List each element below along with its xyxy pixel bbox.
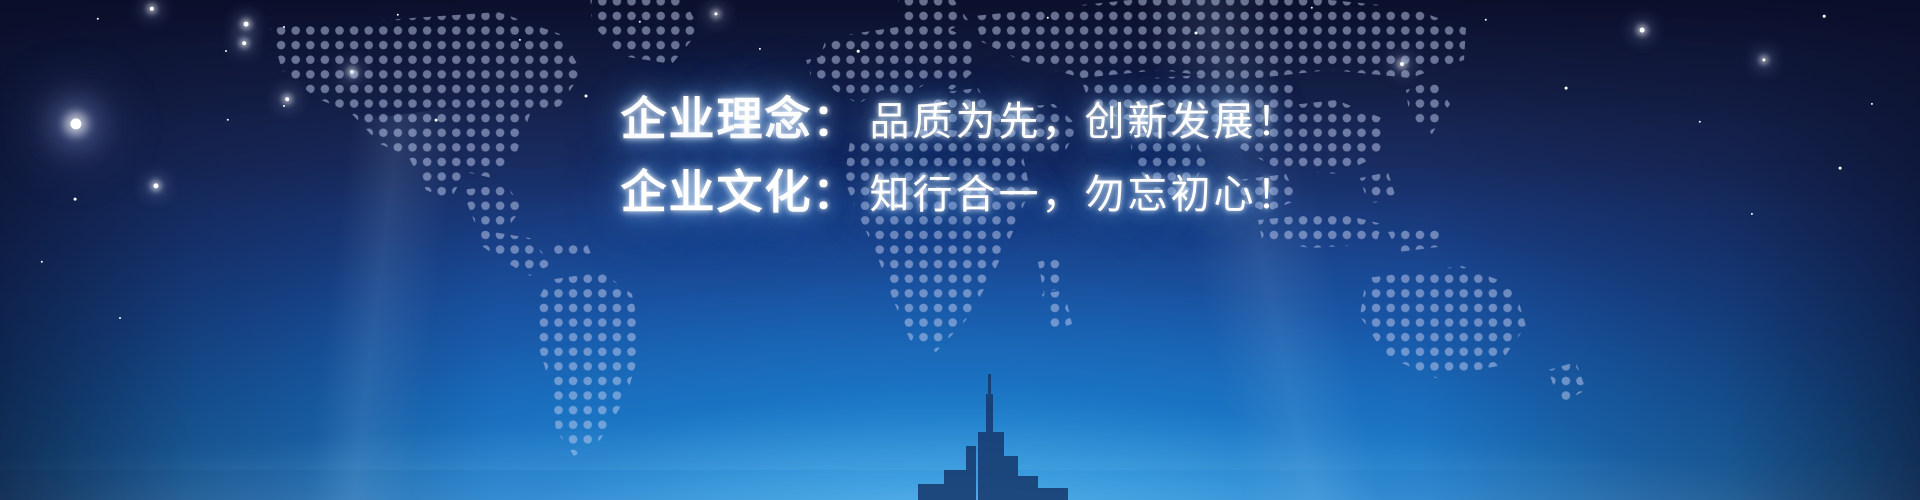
city-skyline-silhouette: [0, 360, 1920, 500]
slogan-line-2: 企业文化：知行合一，勿忘初心！: [0, 169, 1920, 216]
star-icon: [150, 7, 154, 11]
slogan-line-2-body: 知行合一，勿忘初心！: [870, 173, 1300, 217]
slogan-line-1-body: 品质为先，创新发展！: [870, 100, 1300, 144]
enterprise-philosophy-banner: 企业理念：品质为先，创新发展！ 企业文化：知行合一，勿忘初心！: [0, 0, 1920, 500]
slogan-line-1-lead: 企业理念: [621, 93, 813, 145]
slogan-line-1-colon: ：: [813, 96, 858, 145]
star-icon: [1823, 15, 1826, 18]
star-icon: [41, 261, 43, 263]
slogan-line-2-colon: ：: [813, 169, 858, 218]
star-icon: [225, 50, 227, 52]
slogan-line-2-lead: 企业文化: [621, 166, 813, 218]
star-icon: [1762, 58, 1765, 61]
star-icon: [97, 18, 99, 20]
slogan-line-1: 企业理念：品质为先，创新发展！: [0, 96, 1920, 143]
slogan-text-block: 企业理念：品质为先，创新发展！ 企业文化：知行合一，勿忘初心！: [0, 96, 1920, 216]
